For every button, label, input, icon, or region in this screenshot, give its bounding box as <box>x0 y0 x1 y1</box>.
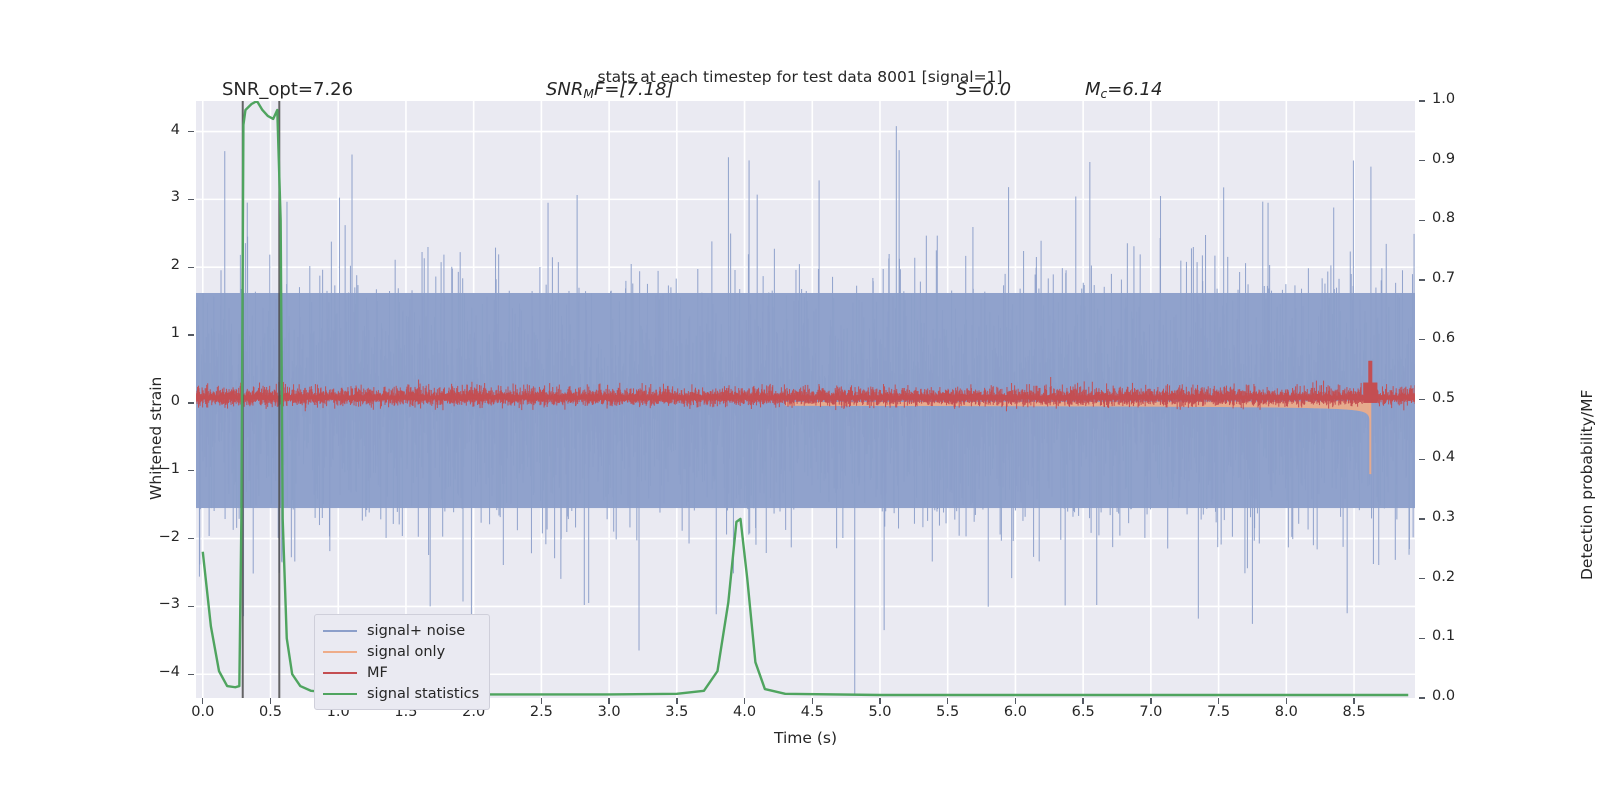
legend-item[interactable]: MF <box>323 662 479 683</box>
y-tick-label-right: 0.8 <box>1432 210 1478 226</box>
x-tick-mark <box>812 698 813 704</box>
x-tick-label: 7.5 <box>1194 704 1244 720</box>
x-axis-label: Time (s) <box>196 729 1415 747</box>
x-tick-mark <box>879 698 880 704</box>
x-tick-mark <box>608 698 609 704</box>
annotation-s-stat: S=0.0 <box>956 79 1011 100</box>
x-tick-mark <box>541 698 542 704</box>
legend-item-label: signal statistics <box>367 686 479 702</box>
y-tick-label-left: 3 <box>140 189 180 205</box>
x-tick-label: 4.5 <box>787 704 837 720</box>
y-tick-label-left: −4 <box>140 664 180 680</box>
y-tick-label-right: 0.1 <box>1432 628 1478 644</box>
y-tick-mark-right <box>1419 279 1425 280</box>
annotation-snr-opt: SNR_opt=7.26 <box>222 79 353 100</box>
y-axis-label-right: Detection probability/MF <box>1578 390 1596 580</box>
y-tick-label-left: −2 <box>140 529 180 545</box>
y-tick-label-right: 0.2 <box>1432 569 1478 585</box>
x-tick-mark <box>1150 698 1151 704</box>
x-tick-mark <box>676 698 677 704</box>
plot-area[interactable] <box>196 101 1415 698</box>
y-tick-mark-right <box>1419 578 1425 579</box>
y-tick-mark-right <box>1419 100 1425 101</box>
y-tick-label-right: 0.6 <box>1432 330 1478 346</box>
x-tick-mark <box>1082 698 1083 704</box>
x-tick-mark <box>947 698 948 704</box>
x-tick-mark <box>1015 698 1016 704</box>
y-tick-mark-left <box>188 131 194 132</box>
y-tick-label-right: 0.3 <box>1432 509 1478 525</box>
y-tick-mark-right <box>1419 638 1425 639</box>
x-tick-label: 0.0 <box>178 704 228 720</box>
y-tick-mark-left <box>188 470 194 471</box>
chart-svg <box>196 101 1415 698</box>
y-tick-mark-right <box>1419 160 1425 161</box>
y-tick-mark-right <box>1419 339 1425 340</box>
y-tick-label-right: 0.5 <box>1432 390 1478 406</box>
y-tick-label-right: 1.0 <box>1432 91 1478 107</box>
legend-item[interactable]: signal only <box>323 641 479 662</box>
y-tick-mark-left <box>188 538 194 539</box>
y-tick-mark-right <box>1419 220 1425 221</box>
y-tick-label-right: 0.4 <box>1432 449 1478 465</box>
y-tick-label-right: 0.9 <box>1432 151 1478 167</box>
y-tick-mark-right <box>1419 697 1425 698</box>
x-tick-mark <box>1353 698 1354 704</box>
x-tick-label: 0.5 <box>245 704 295 720</box>
y-tick-label-left: 1 <box>140 325 180 341</box>
legend-item[interactable]: signal statistics <box>323 683 479 704</box>
legend-item-label: signal+ noise <box>367 623 465 639</box>
x-tick-label: 3.0 <box>584 704 634 720</box>
x-tick-label: 4.0 <box>720 704 770 720</box>
legend-item-label: signal only <box>367 644 445 660</box>
x-tick-mark <box>1218 698 1219 704</box>
x-tick-label: 6.5 <box>1058 704 1108 720</box>
x-tick-label: 7.0 <box>1126 704 1176 720</box>
x-tick-label: 8.5 <box>1329 704 1379 720</box>
legend-swatch-line <box>323 693 357 695</box>
figure-canvas: stats at each timestep for test data 800… <box>0 0 1600 800</box>
x-tick-mark <box>744 698 745 704</box>
y-tick-mark-left <box>188 199 194 200</box>
y-tick-label-left: 2 <box>140 257 180 273</box>
x-tick-label: 5.5 <box>923 704 973 720</box>
x-tick-label: 5.0 <box>855 704 905 720</box>
y-tick-mark-left <box>188 334 194 335</box>
x-tick-mark <box>1286 698 1287 704</box>
legend-swatch-line <box>323 630 357 632</box>
y-tick-label-left: 4 <box>140 122 180 138</box>
legend-swatch-line <box>323 651 357 653</box>
y-tick-mark-left <box>188 267 194 268</box>
annotation-chirp-mass: Mc=6.14 <box>1085 79 1162 101</box>
y-tick-label-left: −3 <box>140 596 180 612</box>
y-tick-mark-left <box>188 674 194 675</box>
x-tick-mark <box>202 698 203 704</box>
y-tick-mark-right <box>1419 518 1425 519</box>
y-tick-label-right: 0.0 <box>1432 688 1478 704</box>
y-tick-mark-right <box>1419 459 1425 460</box>
y-tick-mark-left <box>188 402 194 403</box>
y-tick-label-right: 0.7 <box>1432 270 1478 286</box>
y-tick-label-left: −1 <box>140 461 180 477</box>
legend-item-label: MF <box>367 665 388 681</box>
y-tick-mark-left <box>188 606 194 607</box>
y-tick-mark-right <box>1419 399 1425 400</box>
x-tick-label: 8.0 <box>1261 704 1311 720</box>
y-tick-label-left: 0 <box>140 393 180 409</box>
x-tick-label: 2.5 <box>516 704 566 720</box>
legend-item[interactable]: signal+ noise <box>323 620 479 641</box>
x-tick-label: 3.5 <box>652 704 702 720</box>
annotation-snr-mf: SNRMF=[7.18] <box>546 79 674 101</box>
x-tick-mark <box>270 698 271 704</box>
chart-legend[interactable]: signal+ noisesignal onlyMFsignal statist… <box>314 614 490 710</box>
x-tick-label: 6.0 <box>990 704 1040 720</box>
legend-swatch-line <box>323 672 357 674</box>
series-signal-plus-noise <box>196 126 1415 694</box>
